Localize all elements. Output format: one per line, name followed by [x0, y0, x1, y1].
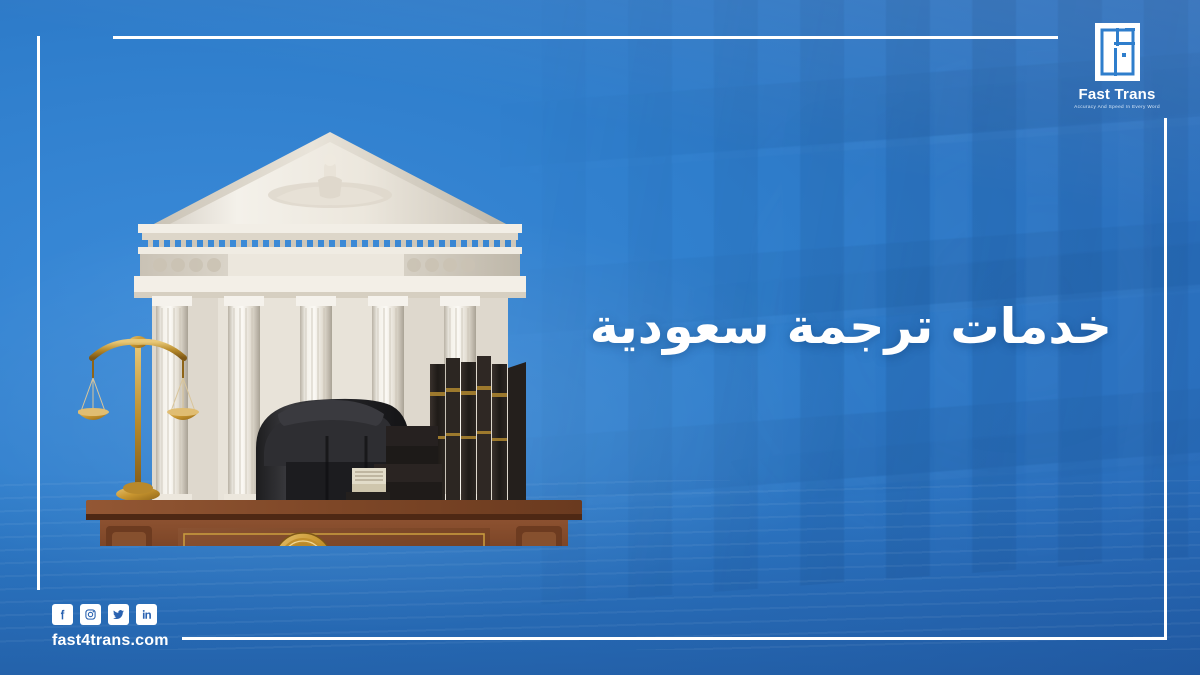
instagram-icon[interactable]	[80, 604, 101, 625]
brand-logo[interactable]: Fast Trans Accuracy And Speed In Every W…	[1069, 22, 1165, 110]
footer: fast4trans.com	[52, 604, 169, 650]
judge-bench: LAW	[80, 500, 586, 546]
courthouse-illustration: LAW	[78, 96, 588, 546]
facebook-icon[interactable]	[52, 604, 73, 625]
frame-line-right	[1164, 118, 1167, 640]
twitter-icon[interactable]	[108, 604, 129, 625]
banner-canvas: LAW خدمات ترجمة سعودية Fast Trans	[0, 0, 1200, 675]
brand-tagline: Accuracy And Speed In Every Word	[1068, 105, 1166, 110]
social-links	[52, 604, 169, 625]
linkedin-icon[interactable]	[136, 604, 157, 625]
website-url[interactable]: fast4trans.com	[52, 632, 169, 650]
frame-line-left	[37, 36, 40, 590]
brand-name: Fast Trans	[1069, 87, 1165, 102]
frame-line-top	[113, 36, 1058, 39]
page-title: خدمات ترجمة سعودية	[590, 298, 1112, 355]
fast-trans-f-monogram-icon	[1094, 22, 1141, 82]
frame-line-bottom	[182, 637, 1164, 640]
